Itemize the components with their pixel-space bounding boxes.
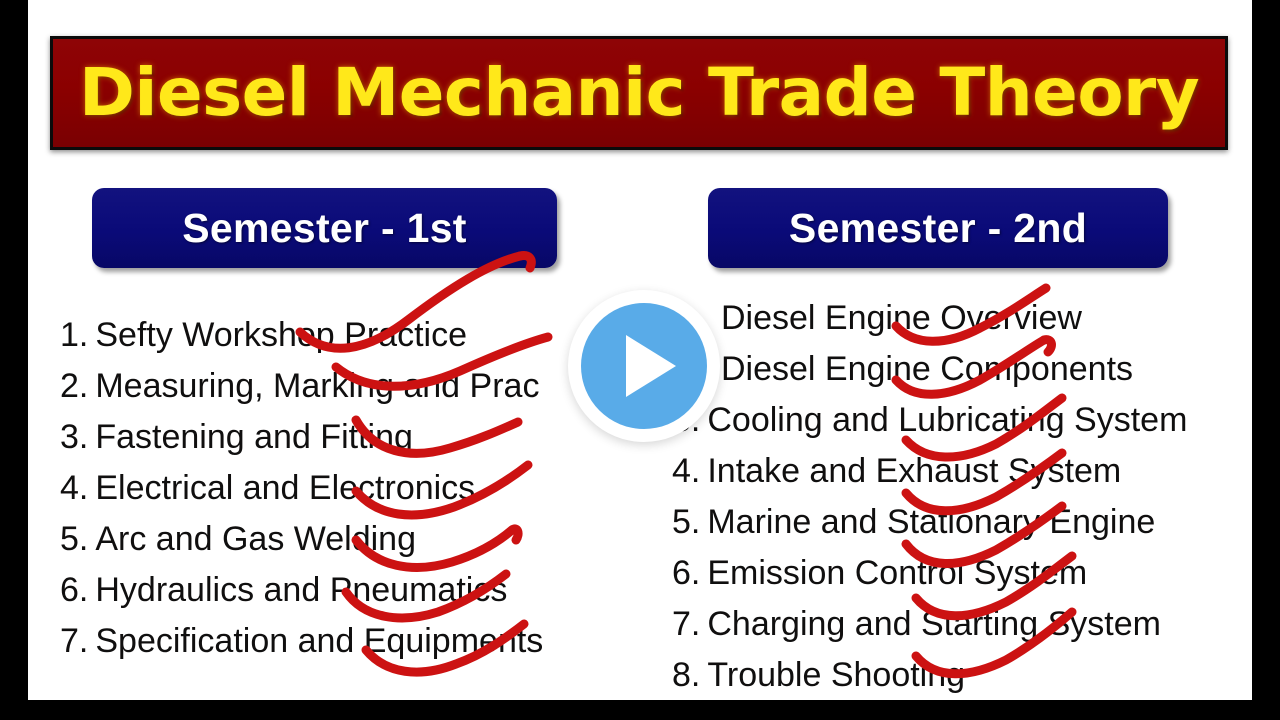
list-item-label: Diesel Engine Components [721,350,1133,388]
list-item: 6.Emission Control System [672,556,1087,590]
list-item-label: Charging and Starting System [707,605,1161,643]
list-item: 3.Cooling and Lubricating System [672,403,1187,437]
bottom-letterbox-band [0,700,1280,720]
list-item: 4.Intake and Exhaust System [672,454,1121,488]
list-item-label: Electrical and Electronics [95,469,475,507]
list-item-number: 1. [60,316,88,354]
video-thumbnail-screen: Diesel Mechanic Trade Theory Semester - … [0,0,1280,720]
list-item-label: Cooling and Lubricating System [707,401,1187,439]
list-item: 3.Fastening and Fitting [60,420,413,454]
list-item: 8.Trouble Shooting [672,658,965,692]
semester-2-label: Semester - 2nd [789,205,1087,252]
list-item-label: Measuring, Marking and Prac [95,367,539,405]
list-item-label: Intake and Exhaust System [707,452,1121,490]
list-item: 2.Measuring, Marking and Prac [60,369,539,403]
list-item: 6.Hydraulics and Pneumatics [60,573,507,607]
play-triangle-icon [626,335,676,397]
list-item-number: 2. [60,367,88,405]
semester-2-badge[interactable]: Semester - 2nd [708,188,1168,268]
list-item-number: 7. [60,622,88,660]
list-item: 5.Arc and Gas Welding [60,522,416,556]
list-item-label: Sefty Workshop Practice [95,316,467,354]
list-item: 1.Sefty Workshop Practice [60,318,467,352]
list-item-number: 6. [672,554,700,592]
list-item-label: Arc and Gas Welding [95,520,416,558]
list-item-number: 5. [672,503,700,541]
list-item-number: 3. [60,418,88,456]
list-item: 4.Electrical and Electronics [60,471,475,505]
semester-1-label: Semester - 1st [182,205,467,252]
play-button[interactable] [568,290,720,442]
play-button-disc [581,303,707,429]
list-item-number: 4. [672,452,700,490]
list-item-label: Trouble Shooting [707,656,965,694]
list-item: 7.Specification and Equipments [60,624,543,658]
list-item-number: 8. [672,656,700,694]
list-item-label: Emission Control System [707,554,1087,592]
title-banner: Diesel Mechanic Trade Theory [50,36,1228,150]
list-item-number: 6. [60,571,88,609]
list-item-label: Diesel Engine Overview [721,299,1082,337]
list-item-label: Fastening and Fitting [95,418,413,456]
semester-1-badge[interactable]: Semester - 1st [92,188,557,268]
list-item: 7.Charging and Starting System [672,607,1161,641]
list-item-number: 7. [672,605,700,643]
list-item-number: 5. [60,520,88,558]
list-item-number: 4. [60,469,88,507]
list-item: 5.Marine and Stationary Engine [672,505,1155,539]
list-item-label: Hydraulics and Pneumatics [95,571,507,609]
list-item-label: Specification and Equipments [95,622,543,660]
list-item-label: Marine and Stationary Engine [707,503,1155,541]
page-title: Diesel Mechanic Trade Theory [79,60,1199,126]
list-item: Diesel Engine Components [714,352,1133,386]
list-item: Diesel Engine Overview [714,301,1082,335]
